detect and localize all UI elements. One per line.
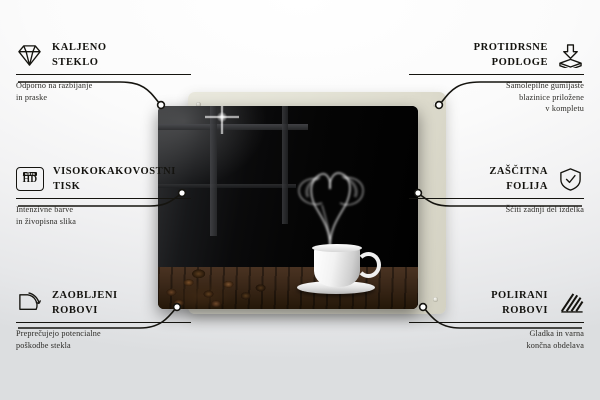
feature-protective-film: ZAŠČITNA FOLIJA Ščiti zadnji del izdelka [409,164,584,216]
feature-high-quality-print: ultra HD VISOKOKAKOVOSTNI TISK Intenzivn… [16,164,191,227]
diamond-icon [16,43,43,68]
cup-handle [356,252,381,278]
feature-heading: ultra HD VISOKOKAKOVOSTNI TISK [16,164,191,194]
feature-tempered-glass: KALJENO STEKLO Odporno na razbijanje in … [16,40,191,103]
feature-description: Ščiti zadnji del izdelka [409,204,584,215]
infographic-canvas: KALJENO STEKLO Odporno na razbijanje in … [0,0,600,400]
anti-slip-pad-icon [557,43,584,68]
feature-title: PROTIDRSNE PODLOGE [474,40,548,70]
feature-title: POLIRANI ROBOVI [491,288,548,318]
rounded-corner-icon [16,291,43,316]
feature-description: Preprečujejo potencialne poškodbe stekla [16,328,191,350]
coffee-cup [314,247,360,287]
feature-heading: KALJENO STEKLO [16,40,191,70]
feature-description: Intenzivne barve in živopisna slika [16,204,191,226]
window-frame-bar [210,106,217,236]
feature-title: VISOKOKAKOVOSTNI TISK [53,164,176,194]
feature-title: KALJENO STEKLO [52,40,107,70]
feature-divider [409,74,584,75]
feature-divider [16,322,191,323]
feature-divider [409,198,584,199]
feature-description: Gladka in varna končna obdelava [409,328,584,350]
product-image [158,92,446,317]
shield-check-icon [557,167,584,192]
feature-heading: ZAŠČITNA FOLIJA [409,164,584,194]
feature-divider [16,74,191,75]
feature-anti-slip-pads: PROTIDRSNE PODLOGE Samolepilne gumijaste… [409,40,584,114]
feature-heading: POLIRANI ROBOVI [409,288,584,318]
heart-steam [284,159,376,251]
feature-divider [16,198,191,199]
feature-polished-edges: POLIRANI ROBOVI Gladka in varna končna o… [409,288,584,351]
feature-description: Samolepilne gumijaste blazinice priložen… [409,80,584,114]
feature-divider [409,322,584,323]
feature-rounded-edges: ZAOBLJENI ROBOVI Preprečujejo potencialn… [16,288,191,351]
cup-rim [312,244,362,252]
ultra-hd-icon: ultra HD [16,167,44,191]
feature-title: ZAOBLJENI ROBOVI [52,288,118,318]
glass-board-front [158,106,418,309]
feature-title: ZAŠČITNA FOLIJA [489,164,548,194]
feature-description: Odporno na razbijanje in praske [16,80,191,102]
polished-edge-icon [557,291,584,316]
feature-heading: PROTIDRSNE PODLOGE [409,40,584,70]
feature-heading: ZAOBLJENI ROBOVI [16,288,191,318]
